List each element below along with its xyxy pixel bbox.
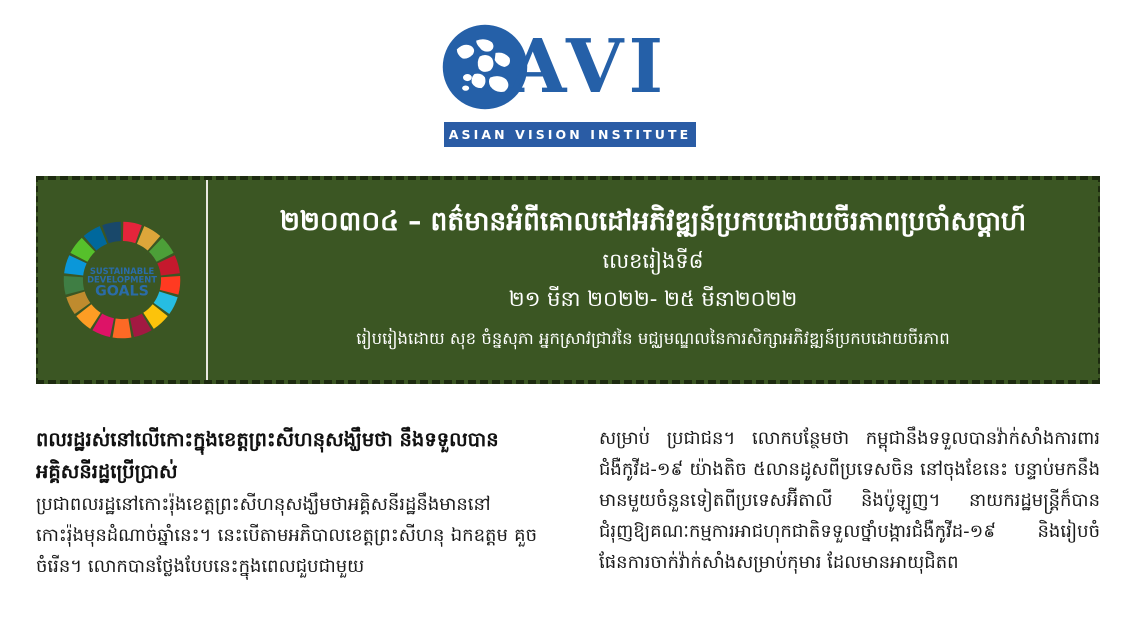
banner-byline: រៀបរៀងដោយ សុខ ចំន្នសុភា អ្នកស្រាវជ្រាវនៃ… bbox=[356, 327, 949, 351]
masthead: AVI ASIAN VISION INSTITUTE bbox=[0, 0, 1136, 168]
avi-logo: AVI ASIAN VISION INSTITUTE bbox=[439, 21, 697, 147]
sdg-wheel-icon: SUSTAINABLE DEVELOPMENT GOALS bbox=[60, 218, 184, 342]
right-column: សម្រាប់ ប្រជាជន។ លោកបន្ថែមថា កម្ពុជានឹងទ… bbox=[599, 424, 1100, 640]
sdg-center-line3: GOALS bbox=[95, 284, 149, 300]
sdg-logo-cell: SUSTAINABLE DEVELOPMENT GOALS bbox=[38, 180, 208, 380]
article-body: ពលរដ្ឋរស់នៅលើកោះក្នុងខេត្តព្រះសីហនុសង្ឃឹ… bbox=[36, 424, 1100, 640]
newsletter-page: AVI ASIAN VISION INSTITUTE SUSTAINABLE D… bbox=[0, 0, 1136, 640]
avi-tagline-bar: ASIAN VISION INSTITUTE bbox=[444, 122, 696, 147]
left-column: ពលរដ្ឋរស់នៅលើកោះក្នុងខេត្តព្រះសីហនុសង្ឃឹ… bbox=[36, 424, 537, 640]
banner-title: ២២០៣០៤ – ពត៌មានអំពីគោលដៅអភិវឌ្ឍន៍ប្រកបដោ… bbox=[280, 205, 1026, 239]
newsletter-banner: SUSTAINABLE DEVELOPMENT GOALS ២២០៣០៤ – ព… bbox=[36, 176, 1100, 384]
banner-date-range: ២១ មីនា ២០២២- ២៥ មីនា២០២២ bbox=[509, 284, 798, 314]
banner-issue-number: លេខរៀងទី៨ bbox=[602, 246, 703, 276]
avi-acronym: AVI bbox=[509, 17, 668, 117]
right-column-paragraph: សម្រាប់ ប្រជាជន។ លោកបន្ថែមថា កម្ពុជានឹងទ… bbox=[599, 424, 1100, 579]
left-column-paragraph: ប្រជាពលរដ្ឋនៅកោះរ៉ុងខេត្តព្រះសីហនុសង្ឃឹម… bbox=[36, 490, 537, 583]
left-column-headline: ពលរដ្ឋរស់នៅលើកោះក្នុងខេត្តព្រះសីហនុសង្ឃឹ… bbox=[36, 424, 537, 487]
banner-text-cell: ២២០៣០៤ – ពត៌មានអំពីគោលដៅអភិវឌ្ឍន៍ប្រកបដោ… bbox=[208, 180, 1098, 380]
avi-tagline: ASIAN VISION INSTITUTE bbox=[449, 127, 691, 142]
